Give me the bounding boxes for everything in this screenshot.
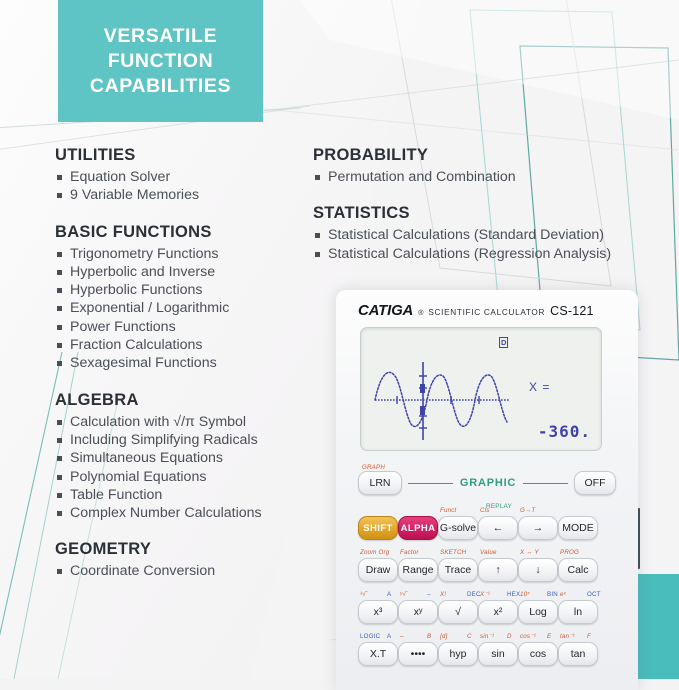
key-hyp[interactable]: hyp (438, 642, 478, 666)
feature-list-item: Calculation with √/π Symbol (55, 413, 310, 431)
key-mode[interactable]: MODE (558, 516, 598, 540)
key-secondary-label: GRAPH (362, 464, 385, 471)
key-alpha-label: D (507, 633, 512, 640)
feature-list-item: Hyperbolic Functions (55, 281, 310, 299)
feature-section: STATISTICSStatistical Calculations (Stan… (313, 204, 673, 263)
hero-title-box: VERSATILE FUNCTION CAPABILITIES (58, 0, 263, 122)
key-x[interactable]: xʸ (398, 600, 438, 624)
feature-section-heading: STATISTICS (313, 204, 673, 223)
key-secondary-label: Funct (440, 507, 456, 514)
key-alpha-label: A (387, 633, 391, 640)
feature-list-item: Power Functions (55, 318, 310, 336)
keypad-row-shift: SHIFTALPHAFunctG-solveCls←G→T→MODEREPLAY (336, 507, 638, 545)
key-alpha-label: B (427, 633, 431, 640)
feature-section-heading: GEOMETRY (55, 540, 310, 559)
brand-subtitle: SCIENTIFIC CALCULATOR (428, 308, 545, 317)
feature-section: UTILITIESEquation Solver9 Variable Memor… (55, 146, 310, 205)
key-secondary-label: 10ˣ (520, 591, 530, 598)
key-secondary-label: PROG (560, 549, 579, 556)
features-left-column: UTILITIESEquation Solver9 Variable Memor… (55, 146, 310, 581)
feature-list-item: Equation Solver (55, 168, 310, 186)
feature-list-item: Hyperbolic and Inverse (55, 263, 310, 281)
key-dots[interactable]: •••• (398, 642, 438, 666)
key-range[interactable]: Range (398, 558, 438, 582)
key-square-root[interactable]: √ (438, 600, 478, 624)
feature-list-item: Including Simplifying Radicals (55, 431, 310, 449)
key-secondary-label: LOGIC (360, 633, 380, 640)
key-log[interactable]: Log (518, 600, 558, 624)
feature-list-item: Exponential / Logarithmic (55, 299, 310, 317)
key-alpha-label: C (467, 633, 472, 640)
key-off[interactable]: OFF (574, 471, 616, 495)
key-secondary-label: X ↔ Y (520, 549, 539, 556)
calculator-lcd-screen: D X = -360. (360, 327, 602, 451)
feature-section: PROBABILITYPermutation and Combination (313, 146, 673, 186)
key-alpha-label: HEX (507, 591, 520, 598)
keypad-row-power: ³√‾Ax³ʸ√‾–xʸX!DEC√X⁻¹HEXx²10ˣBINLogeˣOCT… (336, 591, 638, 629)
feature-section-heading: ALGEBRA (55, 391, 310, 410)
brand-registered-mark: ® (418, 310, 423, 317)
feature-list-item: Statistical Calculations (Regression Ana… (313, 245, 673, 263)
key-alpha-label: E (547, 633, 551, 640)
key-arrow-down[interactable]: ↓ (518, 558, 558, 582)
brand-model: CS-121 (550, 304, 594, 318)
key-xt[interactable]: X.T (358, 642, 398, 666)
features-right-column: PROBABILITYPermutation and CombinationST… (313, 146, 673, 263)
lcd-prompt: X = (529, 380, 550, 394)
key-alpha[interactable]: ALPHA (398, 516, 438, 540)
key-arrow-up[interactable]: ↑ (478, 558, 518, 582)
feature-list-item: Polynomial Equations (55, 468, 310, 486)
key-secondary-label: Factor (400, 549, 419, 556)
key-gsolve[interactable]: G-solve (438, 516, 478, 540)
lcd-mode-indicator: D (499, 337, 508, 348)
key-ln[interactable]: ln (558, 600, 598, 624)
key-alpha-label: – (427, 591, 431, 598)
key-secondary-label: tan⁻¹ (560, 633, 575, 640)
feature-list-item: Coordinate Conversion (55, 562, 310, 580)
key-secondary-label: ³√‾ (360, 591, 368, 598)
key-sin[interactable]: sin (478, 642, 518, 666)
calculator-device: CATIGA ® SCIENTIFIC CALCULATOR CS-121 D … (336, 290, 638, 690)
key-secondary-label: Zoom Org (360, 549, 389, 556)
feature-list-item: Trigonometry Functions (55, 245, 310, 263)
feature-list: Calculation with √/π SymbolIncluding Sim… (55, 413, 310, 523)
key-secondary-label: Value (480, 549, 497, 556)
feature-list-item: Sexagesimal Functions (55, 354, 310, 372)
feature-section: ALGEBRACalculation with √/π SymbolInclud… (55, 391, 310, 523)
key-alpha-label: A (387, 591, 391, 598)
key-secondary-label: eˣ (560, 591, 566, 598)
key-alpha-label: DEC (467, 591, 481, 598)
key-secondary-label: X! (440, 591, 446, 598)
feature-list: Equation Solver9 Variable Memories (55, 168, 310, 205)
feature-list-item: Fraction Calculations (55, 336, 310, 354)
feature-section: BASIC FUNCTIONSTrigonometry FunctionsHyp… (55, 223, 310, 373)
key-arrow-right[interactable]: → (518, 516, 558, 540)
key-secondary-label: sin⁻¹ (480, 633, 494, 640)
keypad-row-trig: LOGICAX.T–B••••[d]Chypsin⁻¹Dsincos⁻¹Ecos… (336, 633, 638, 671)
feature-list-item: Statistical Calculations (Standard Devia… (313, 226, 673, 244)
key-secondary-label: [d] (440, 633, 447, 640)
feature-section-heading: UTILITIES (55, 146, 310, 165)
feature-section-heading: PROBABILITY (313, 146, 673, 165)
key-alpha-label: BIN (547, 591, 558, 598)
key-arrow-left[interactable]: ← (478, 516, 518, 540)
key-secondary-label: cos⁻¹ (520, 633, 536, 640)
keypad-row-draw: Zoom OrgDrawFactorRangeSKETCHTraceValue↑… (336, 549, 638, 587)
feature-list: Trigonometry FunctionsHyperbolic and Inv… (55, 245, 310, 373)
key-x[interactable]: x³ (358, 600, 398, 624)
key-tan[interactable]: tan (558, 642, 598, 666)
key-draw[interactable]: Draw (358, 558, 398, 582)
feature-section-heading: BASIC FUNCTIONS (55, 223, 310, 242)
feature-list-item: Table Function (55, 486, 310, 504)
feature-section: GEOMETRYCoordinate Conversion (55, 540, 310, 580)
key-cos[interactable]: cos (518, 642, 558, 666)
key-secondary-label: G→T (520, 507, 535, 514)
page-title: VERSATILE FUNCTION CAPABILITIES (90, 24, 231, 99)
feature-list: Statistical Calculations (Standard Devia… (313, 226, 673, 263)
key-secondary-label: SKETCH (440, 549, 466, 556)
graphic-band-label: GRAPHIC (460, 477, 516, 489)
feature-list-item: Permutation and Combination (313, 168, 673, 186)
key-secondary-label: – (400, 633, 404, 640)
feature-list-item: Complex Number Calculations (55, 504, 310, 522)
replay-label: REPLAY (486, 503, 512, 510)
key-trace[interactable]: Trace (438, 558, 478, 582)
key-calc[interactable]: Calc (558, 558, 598, 582)
feature-list: Permutation and Combination (313, 168, 673, 186)
keypad-row-graphic: LRNGRAPHOFFGRAPHIC (336, 465, 638, 503)
key-secondary-label: ʸ√‾ (400, 591, 408, 598)
feature-list-item: 9 Variable Memories (55, 186, 310, 204)
brand-name: CATIGA (358, 302, 413, 319)
key-shift[interactable]: SHIFT (358, 516, 398, 540)
graphic-divider-band: GRAPHIC (408, 477, 568, 489)
feature-list-item: Simultaneous Equations (55, 449, 310, 467)
key-x[interactable]: x² (478, 600, 518, 624)
key-alpha-label: OCT (587, 591, 601, 598)
feature-list: Coordinate Conversion (55, 562, 310, 580)
calculator-brand: CATIGA ® SCIENTIFIC CALCULATOR CS-121 (358, 302, 594, 319)
lcd-readout: -360. (538, 422, 591, 441)
key-secondary-label: X⁻¹ (480, 591, 490, 598)
key-lrn[interactable]: LRN (358, 471, 402, 495)
key-alpha-label: F (587, 633, 591, 640)
